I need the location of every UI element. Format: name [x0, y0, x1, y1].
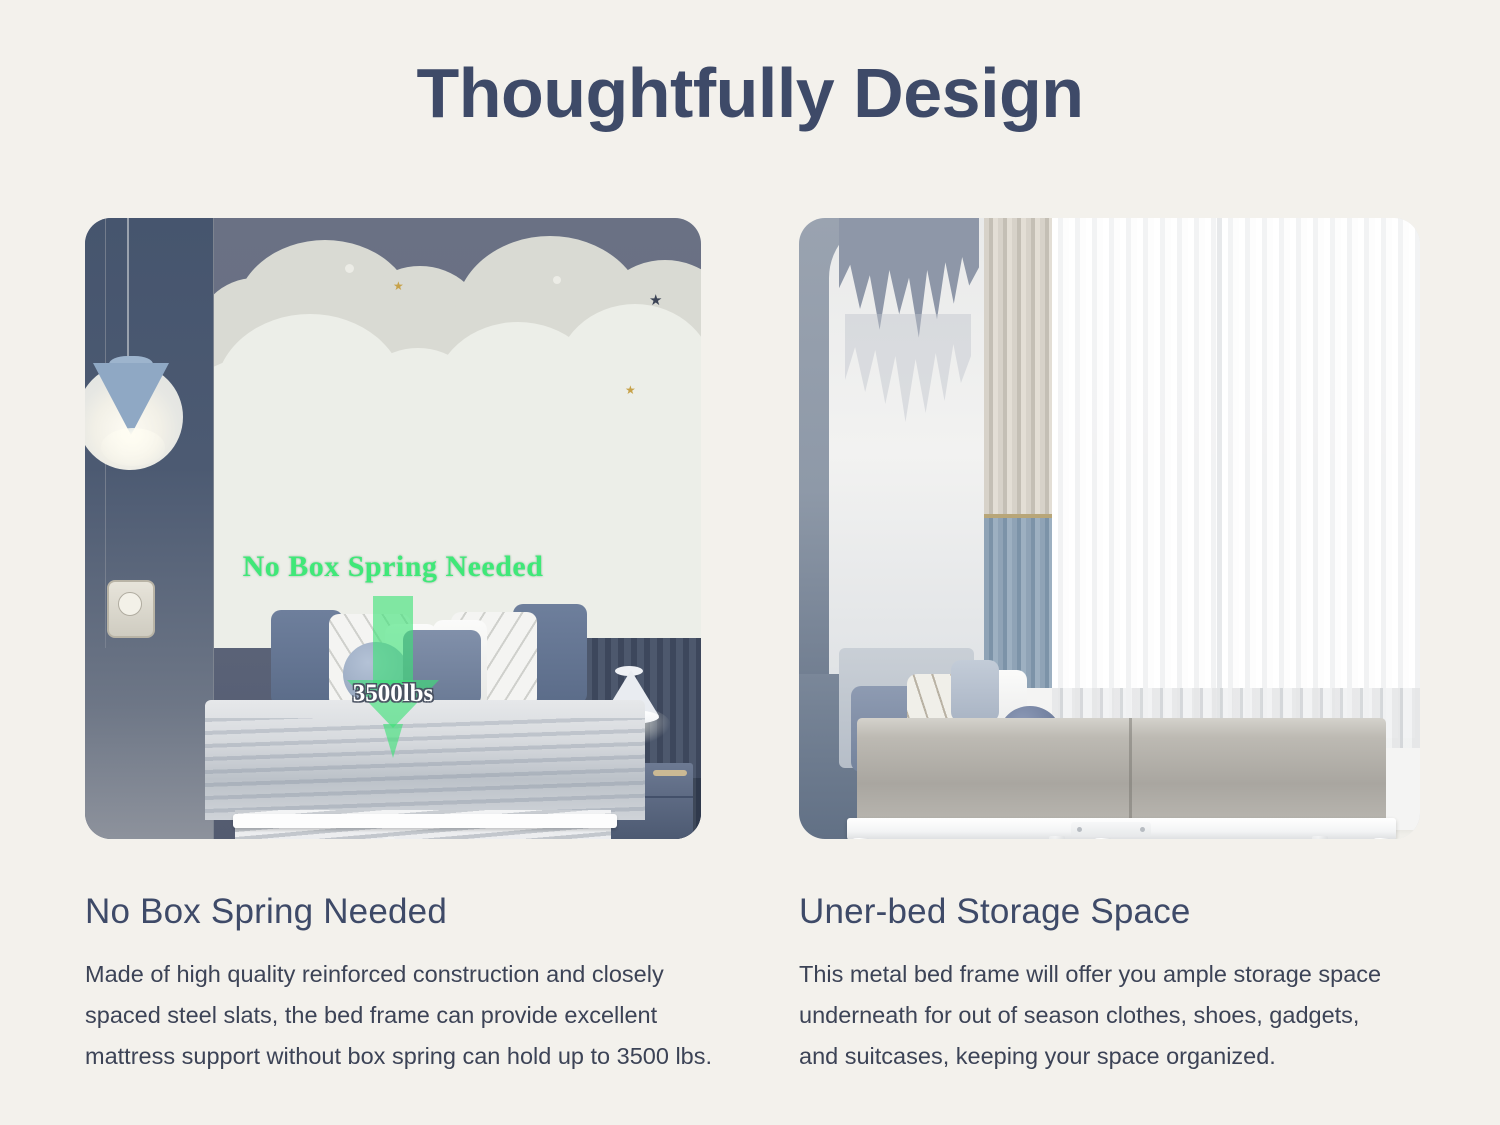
feature-title-no-box-spring: No Box Spring Needed [85, 893, 701, 932]
mattress-seam [1129, 718, 1132, 824]
bed-leg [1095, 838, 1111, 839]
mattress [857, 718, 1386, 824]
bed-leg [1374, 838, 1390, 839]
mural-dot [345, 264, 354, 273]
feature-photo-under-bed-storage [799, 218, 1420, 839]
pendant-lamp-icon [93, 363, 169, 435]
feature-body-no-box-spring: Made of high quality reinforced construc… [85, 954, 715, 1077]
curtain-split [1217, 218, 1222, 738]
feature-panel-no-box-spring: ★ ★ ★ [85, 218, 701, 1077]
pillow-grayblue [951, 660, 999, 722]
pendant-glow [101, 428, 165, 466]
arrow-shaft [373, 596, 413, 684]
load-arrow-icon: 3500lbs [347, 596, 439, 754]
bed-leg-rear [1049, 836, 1065, 839]
overlay-load-label: 3500lbs [325, 680, 461, 708]
bed-leg-rear [1312, 836, 1328, 839]
feature-title-under-bed-storage: Uner-bed Storage Space [799, 893, 1420, 932]
feature-photo-no-box-spring: ★ ★ ★ [85, 218, 701, 839]
bed-frame-top-rail [233, 814, 617, 828]
accent-wall-white [829, 218, 989, 688]
feature-panel-under-bed-storage: Uner-bed Storage Space This metal bed fr… [799, 218, 1420, 1077]
page-title: Thoughtfully Design [0, 58, 1500, 128]
arrow-tail [383, 724, 403, 758]
sheer-curtains [1052, 218, 1420, 738]
table-clock [107, 580, 155, 638]
bed-leg [853, 838, 869, 839]
pendant-cord [127, 218, 129, 370]
feature-body-under-bed-storage: This metal bed frame will offer you ampl… [799, 954, 1399, 1077]
mural-dot [553, 276, 561, 284]
overlay-headline: No Box Spring Needed [85, 550, 701, 584]
center-support-bracket [1071, 822, 1151, 837]
nightstand-decor [653, 770, 687, 776]
star-icon: ★ [393, 280, 404, 292]
star-icon: ★ [649, 293, 662, 308]
star-icon: ★ [625, 384, 636, 396]
infographic-page: Thoughtfully Design [0, 0, 1500, 1125]
